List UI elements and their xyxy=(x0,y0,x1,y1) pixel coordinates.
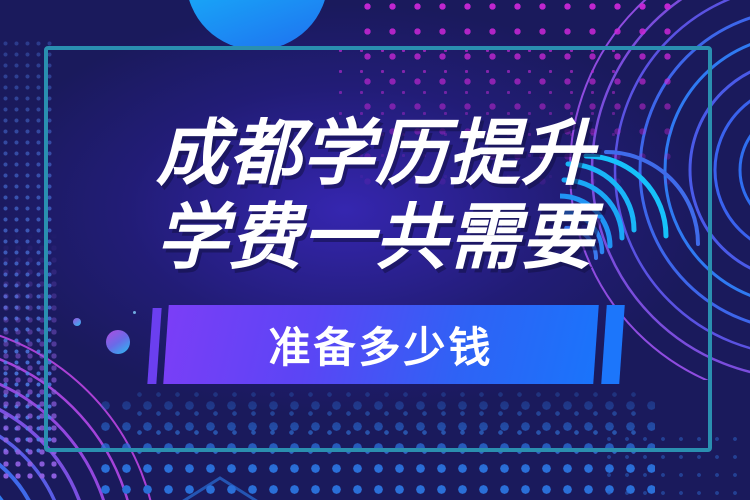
promo-poster: 成都学历提升 学费一共需要 准备多少钱 xyxy=(0,0,750,500)
banner-accent-bar-left xyxy=(147,308,161,384)
headline-line-1: 成都学历提升 xyxy=(0,112,750,196)
headline: 成都学历提升 学费一共需要 xyxy=(0,112,750,280)
subtitle-banner: 准备多少钱 xyxy=(0,302,750,386)
bottom-dot-field-blue-small xyxy=(130,385,650,455)
bottom-chevron-accent xyxy=(150,470,290,500)
bottom-right-dot-field xyxy=(600,430,750,500)
headline-line-2: 学费一共需要 xyxy=(0,196,750,280)
banner-accent-bar-right xyxy=(601,305,625,384)
banner-label: 准备多少钱 xyxy=(166,305,596,384)
